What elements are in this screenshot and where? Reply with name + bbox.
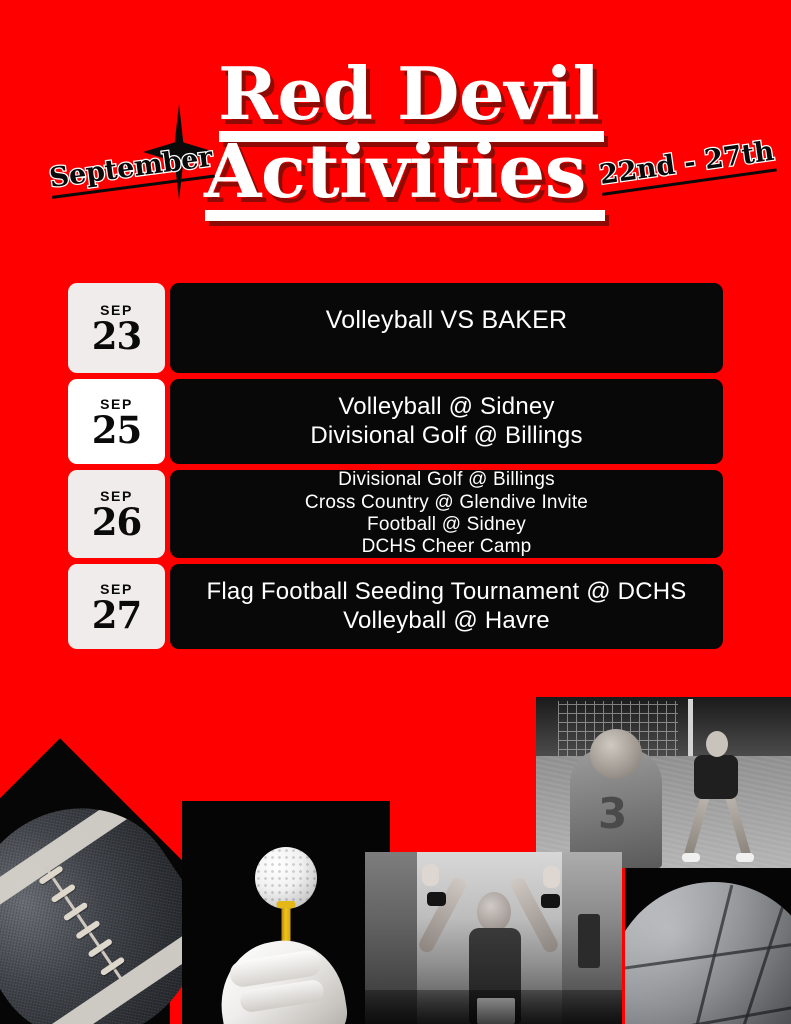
event-text-group: Volleyball @ Sidney Divisional Golf @ Bi…	[310, 393, 582, 450]
poster-canvas: Red Devil Activities September 22nd - 27…	[0, 0, 791, 1024]
event-text-group: Divisional Golf @ Billings Cross Country…	[305, 469, 588, 559]
runner-wristband-right	[541, 894, 560, 908]
date-card: SEP 25	[68, 379, 165, 464]
schedule-row[interactable]: SEP 26 Divisional Golf @ Billings Cross …	[0, 470, 791, 558]
date-card: SEP 27	[68, 564, 165, 649]
golf-ball	[255, 847, 317, 909]
flag-football-defender-shoe	[682, 853, 700, 862]
runner-crowd	[365, 990, 622, 1024]
runner-head	[477, 892, 511, 932]
poster-header: Red Devil Activities September 22nd - 27…	[0, 0, 791, 265]
event-line: Divisional Golf @ Billings	[305, 469, 588, 491]
runner-arm-left	[417, 875, 469, 954]
event-line: Volleyball VS BAKER	[326, 306, 567, 336]
photo-collage: 3	[0, 660, 791, 1024]
date-card-day: 25	[92, 412, 142, 449]
title-line-2: Activities	[204, 135, 586, 209]
date-card-day: 23	[92, 318, 142, 355]
event-card: Divisional Golf @ Billings Cross Country…	[170, 470, 723, 558]
schedule-row[interactable]: SEP 27 Flag Football Seeding Tournament …	[0, 564, 791, 649]
volleyball-photo	[625, 868, 791, 1024]
flag-football-defender-torso	[694, 755, 738, 799]
date-card: SEP 23	[68, 283, 165, 373]
event-card: Volleyball @ Sidney Divisional Golf @ Bi…	[170, 379, 723, 464]
flag-football-photo: 3	[536, 697, 791, 868]
golf-photo	[182, 801, 390, 1024]
golf-glove-hand	[212, 932, 352, 1024]
event-line: Football @ Sidney	[305, 514, 588, 536]
event-line: Volleyball @ Sidney	[310, 393, 582, 421]
date-card-day: 26	[92, 504, 142, 541]
date-card: SEP 26	[68, 470, 165, 558]
event-text-group: Flag Football Seeding Tournament @ DCHS …	[207, 578, 687, 635]
event-line: Volleyball @ Havre	[207, 607, 687, 635]
runner-wristband-left	[427, 892, 446, 906]
volleyball-ball	[625, 882, 791, 1024]
runner-bg-signal	[578, 914, 600, 968]
volleyball-shading	[625, 882, 791, 1024]
runner-photo	[365, 852, 622, 1024]
schedule-row[interactable]: SEP 25 Volleyball @ Sidney Divisional Go…	[0, 379, 791, 464]
schedule-row[interactable]: SEP 23 Volleyball VS BAKER	[0, 283, 791, 373]
event-line: Divisional Golf @ Billings	[310, 422, 582, 450]
flag-football-defender-shoe	[736, 853, 754, 862]
title-block: Red Devil Activities	[0, 0, 791, 265]
event-card: Flag Football Seeding Tournament @ DCHS …	[170, 564, 723, 649]
event-line: Flag Football Seeding Tournament @ DCHS	[207, 578, 687, 606]
flag-football-player-head	[590, 729, 642, 779]
flag-football-defender-head	[706, 731, 728, 757]
event-line: Cross Country @ Glendive Invite	[305, 492, 588, 514]
runner-hand-left	[422, 864, 439, 886]
runner-hand-right	[543, 866, 560, 888]
date-card-day: 27	[92, 597, 142, 634]
flag-football-jersey-number: 3	[598, 789, 627, 838]
event-text-group: Volleyball VS BAKER	[326, 306, 567, 350]
title-line-1: Red Devil	[218, 58, 599, 130]
event-card: Volleyball VS BAKER	[170, 283, 723, 373]
event-line: DCHS Cheer Camp	[305, 536, 588, 558]
schedule-list: SEP 23 Volleyball VS BAKER SEP 25 Volley…	[0, 283, 791, 655]
